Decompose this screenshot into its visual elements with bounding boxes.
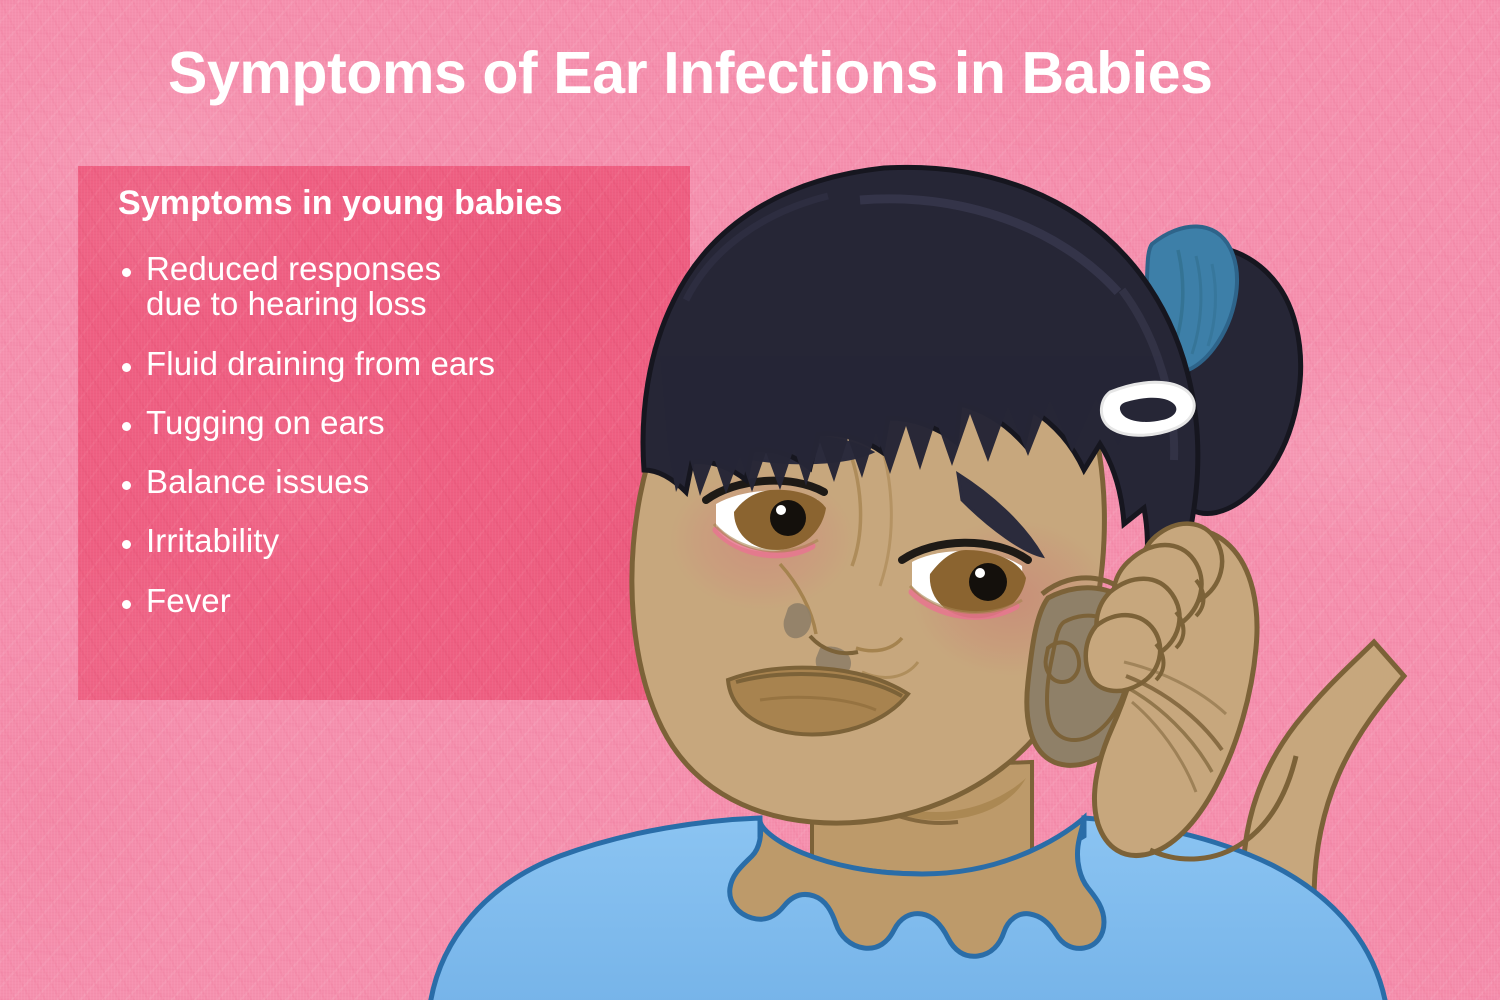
list-item: Fluid draining from ears (118, 346, 678, 381)
list-item: Balance issues (118, 464, 678, 499)
bullet-dot-icon (122, 268, 131, 277)
list-item-label: Irritability (146, 523, 678, 558)
list-item-label: Fluid draining from ears (146, 346, 678, 381)
list-item: Reduced responses due to hearing loss (118, 251, 678, 322)
list-item: Fever (118, 583, 678, 618)
bullet-dot-icon (122, 481, 131, 490)
list-item-label: Fever (146, 583, 678, 618)
bullet-dot-icon (122, 422, 131, 431)
symptom-list: Reduced responses due to hearing loss Fl… (118, 251, 678, 618)
infographic-root: Symptoms of Ear Infections in Babies Sym… (0, 0, 1500, 1000)
bullet-dot-icon (122, 363, 131, 372)
panel-heading: Symptoms in young babies (118, 184, 562, 223)
symptoms-panel: Symptoms in young babies Reduced respons… (78, 166, 690, 700)
list-item-label: Balance issues (146, 464, 678, 499)
list-item: Tugging on ears (118, 405, 678, 440)
list-item-label: Tugging on ears (146, 405, 678, 440)
list-item-label: Reduced responses due to hearing loss (146, 251, 678, 322)
list-item: Irritability (118, 523, 678, 558)
page-title: Symptoms of Ear Infections in Babies (168, 44, 1408, 103)
bullet-dot-icon (122, 600, 131, 609)
bullet-dot-icon (122, 540, 131, 549)
